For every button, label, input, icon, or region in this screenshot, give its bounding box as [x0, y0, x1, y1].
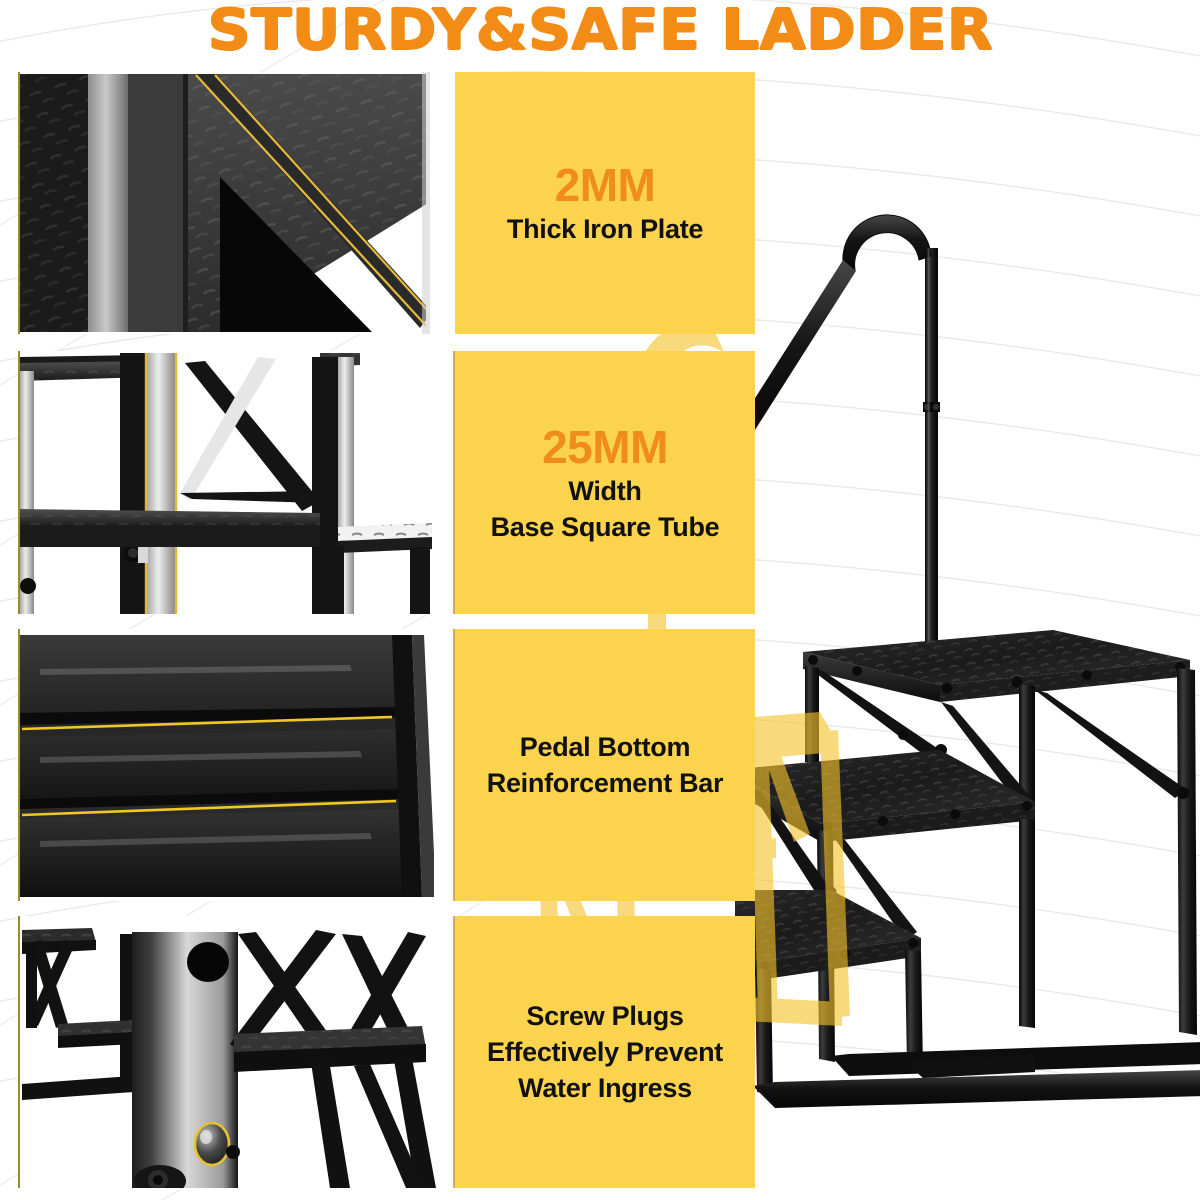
photo-pedal-reinforcement-bar	[18, 629, 455, 901]
caption-line: Screw Plugs	[526, 998, 683, 1034]
caption-base-square-tube: 25MM Width Base Square Tube	[455, 351, 755, 614]
page-title: STURDY&SAFE LADDER	[207, 3, 992, 59]
caption-screw-plugs: Screw Plugs Effectively Prevent Water In…	[455, 916, 755, 1188]
caption-line: Pedal Bottom	[520, 729, 690, 765]
caption-line: Water Ingress	[518, 1070, 692, 1106]
caption-line: Thick Iron Plate	[507, 211, 703, 247]
caption-line: Base Square Tube	[491, 509, 720, 545]
hero-product-ladder	[735, 190, 1200, 1120]
caption-line: Width	[568, 473, 641, 509]
caption-heading: 2MM	[555, 159, 656, 211]
caption-line: Reinforcement Bar	[487, 765, 723, 801]
photo-screw-plugs	[18, 916, 455, 1188]
feature-row-base-square-tube: 25MM Width Base Square Tube	[18, 351, 755, 614]
caption-reinforcement-bar: Pedal Bottom Reinforcement Bar	[455, 629, 755, 901]
photo-thick-iron-plate	[18, 72, 455, 334]
photo-base-square-tube	[18, 351, 455, 614]
feature-row-reinforcement-bar: Pedal Bottom Reinforcement Bar	[18, 629, 755, 901]
feature-row-screw-plugs: Screw Plugs Effectively Prevent Water In…	[18, 916, 755, 1188]
feature-row-thick-iron-plate: 2MM Thick Iron Plate	[18, 72, 755, 334]
caption-line: Effectively Prevent	[487, 1034, 723, 1070]
infographic-page: STURDY&SAFE LADDER	[0, 0, 1200, 1200]
header-banner: STURDY&SAFE LADDER	[0, 0, 1200, 62]
caption-thick-iron-plate: 2MM Thick Iron Plate	[455, 72, 755, 334]
caption-heading: 25MM	[542, 421, 668, 473]
